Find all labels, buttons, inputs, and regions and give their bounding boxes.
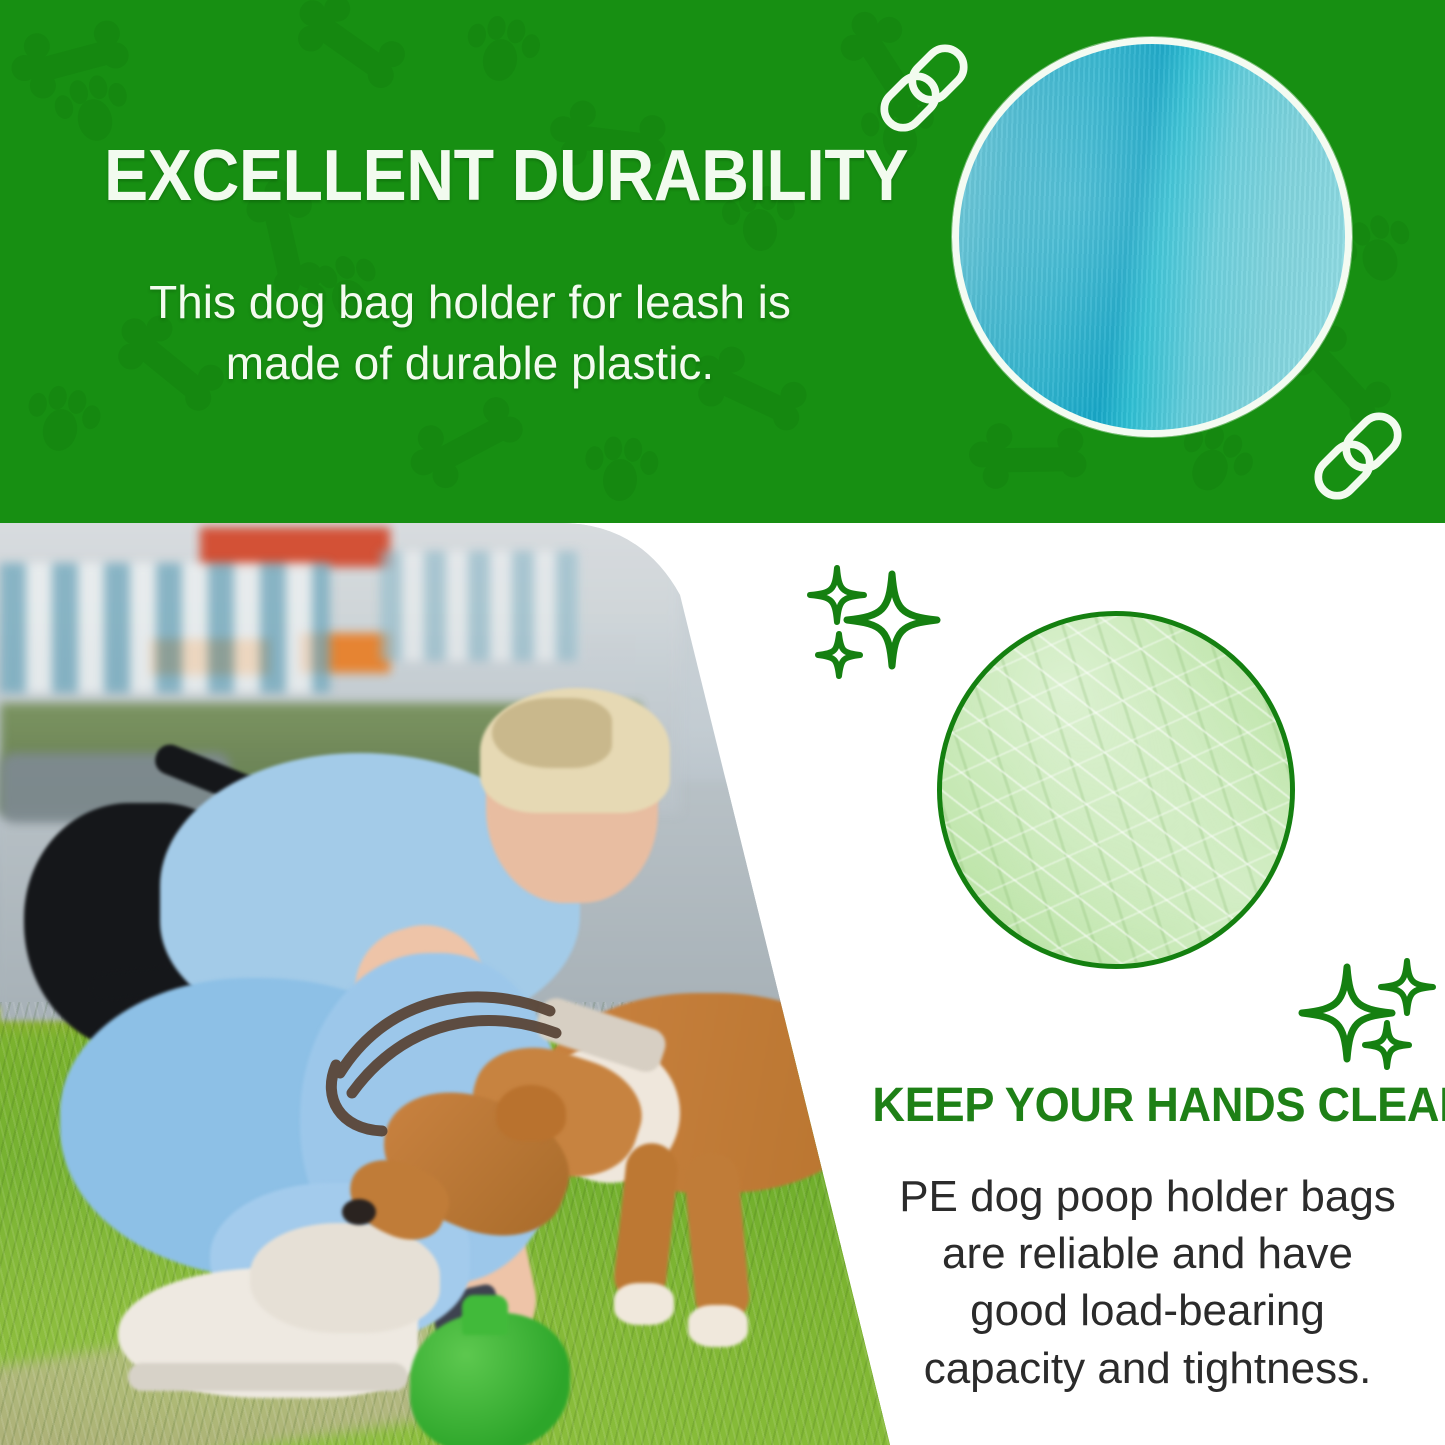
sparkle-icon <box>795 556 950 686</box>
photo-dog-tail <box>806 979 898 1069</box>
product-feature-poster: EXCELLENT DURABILITY This dog bag holder… <box>0 0 1445 1445</box>
top-body-line-1: This dog bag holder for leash is <box>75 272 865 333</box>
lifestyle-photo <box>0 523 900 1445</box>
photo-leash <box>300 933 680 1163</box>
headline-excellent-durability: EXCELLENT DURABILITY <box>104 140 812 212</box>
chain-link-icon <box>1303 401 1413 511</box>
chain-link-icon <box>869 33 979 143</box>
photo-dog-paw <box>614 1283 674 1325</box>
bottom-body-line-2: are reliable and have <box>860 1225 1435 1282</box>
photo-dog-nose <box>342 1199 376 1225</box>
swatch-crinkle-texture <box>937 611 1295 969</box>
top-body-line-2: made of durable plastic. <box>75 333 865 394</box>
bottom-body-line-1: PE dog poop holder bags <box>860 1168 1435 1225</box>
bottom-section-body: PE dog poop holder bags are reliable and… <box>860 1168 1435 1397</box>
bottom-body-line-3: good load-bearing <box>860 1282 1435 1339</box>
teal-plastic-swatch <box>952 37 1352 437</box>
swatch-sheen <box>959 44 1345 430</box>
headline-keep-your-hands-clean: KEEP YOUR HANDS CLEAN <box>872 1082 1417 1130</box>
sparkle-icon <box>1295 955 1445 1080</box>
green-plastic-bag-swatch <box>937 611 1295 969</box>
photo-dog-paw <box>688 1305 748 1347</box>
bottom-body-line-4: capacity and tightness. <box>860 1340 1435 1397</box>
top-green-section: EXCELLENT DURABILITY This dog bag holder… <box>0 0 1445 523</box>
top-section-body: This dog bag holder for leash is made of… <box>75 272 865 393</box>
